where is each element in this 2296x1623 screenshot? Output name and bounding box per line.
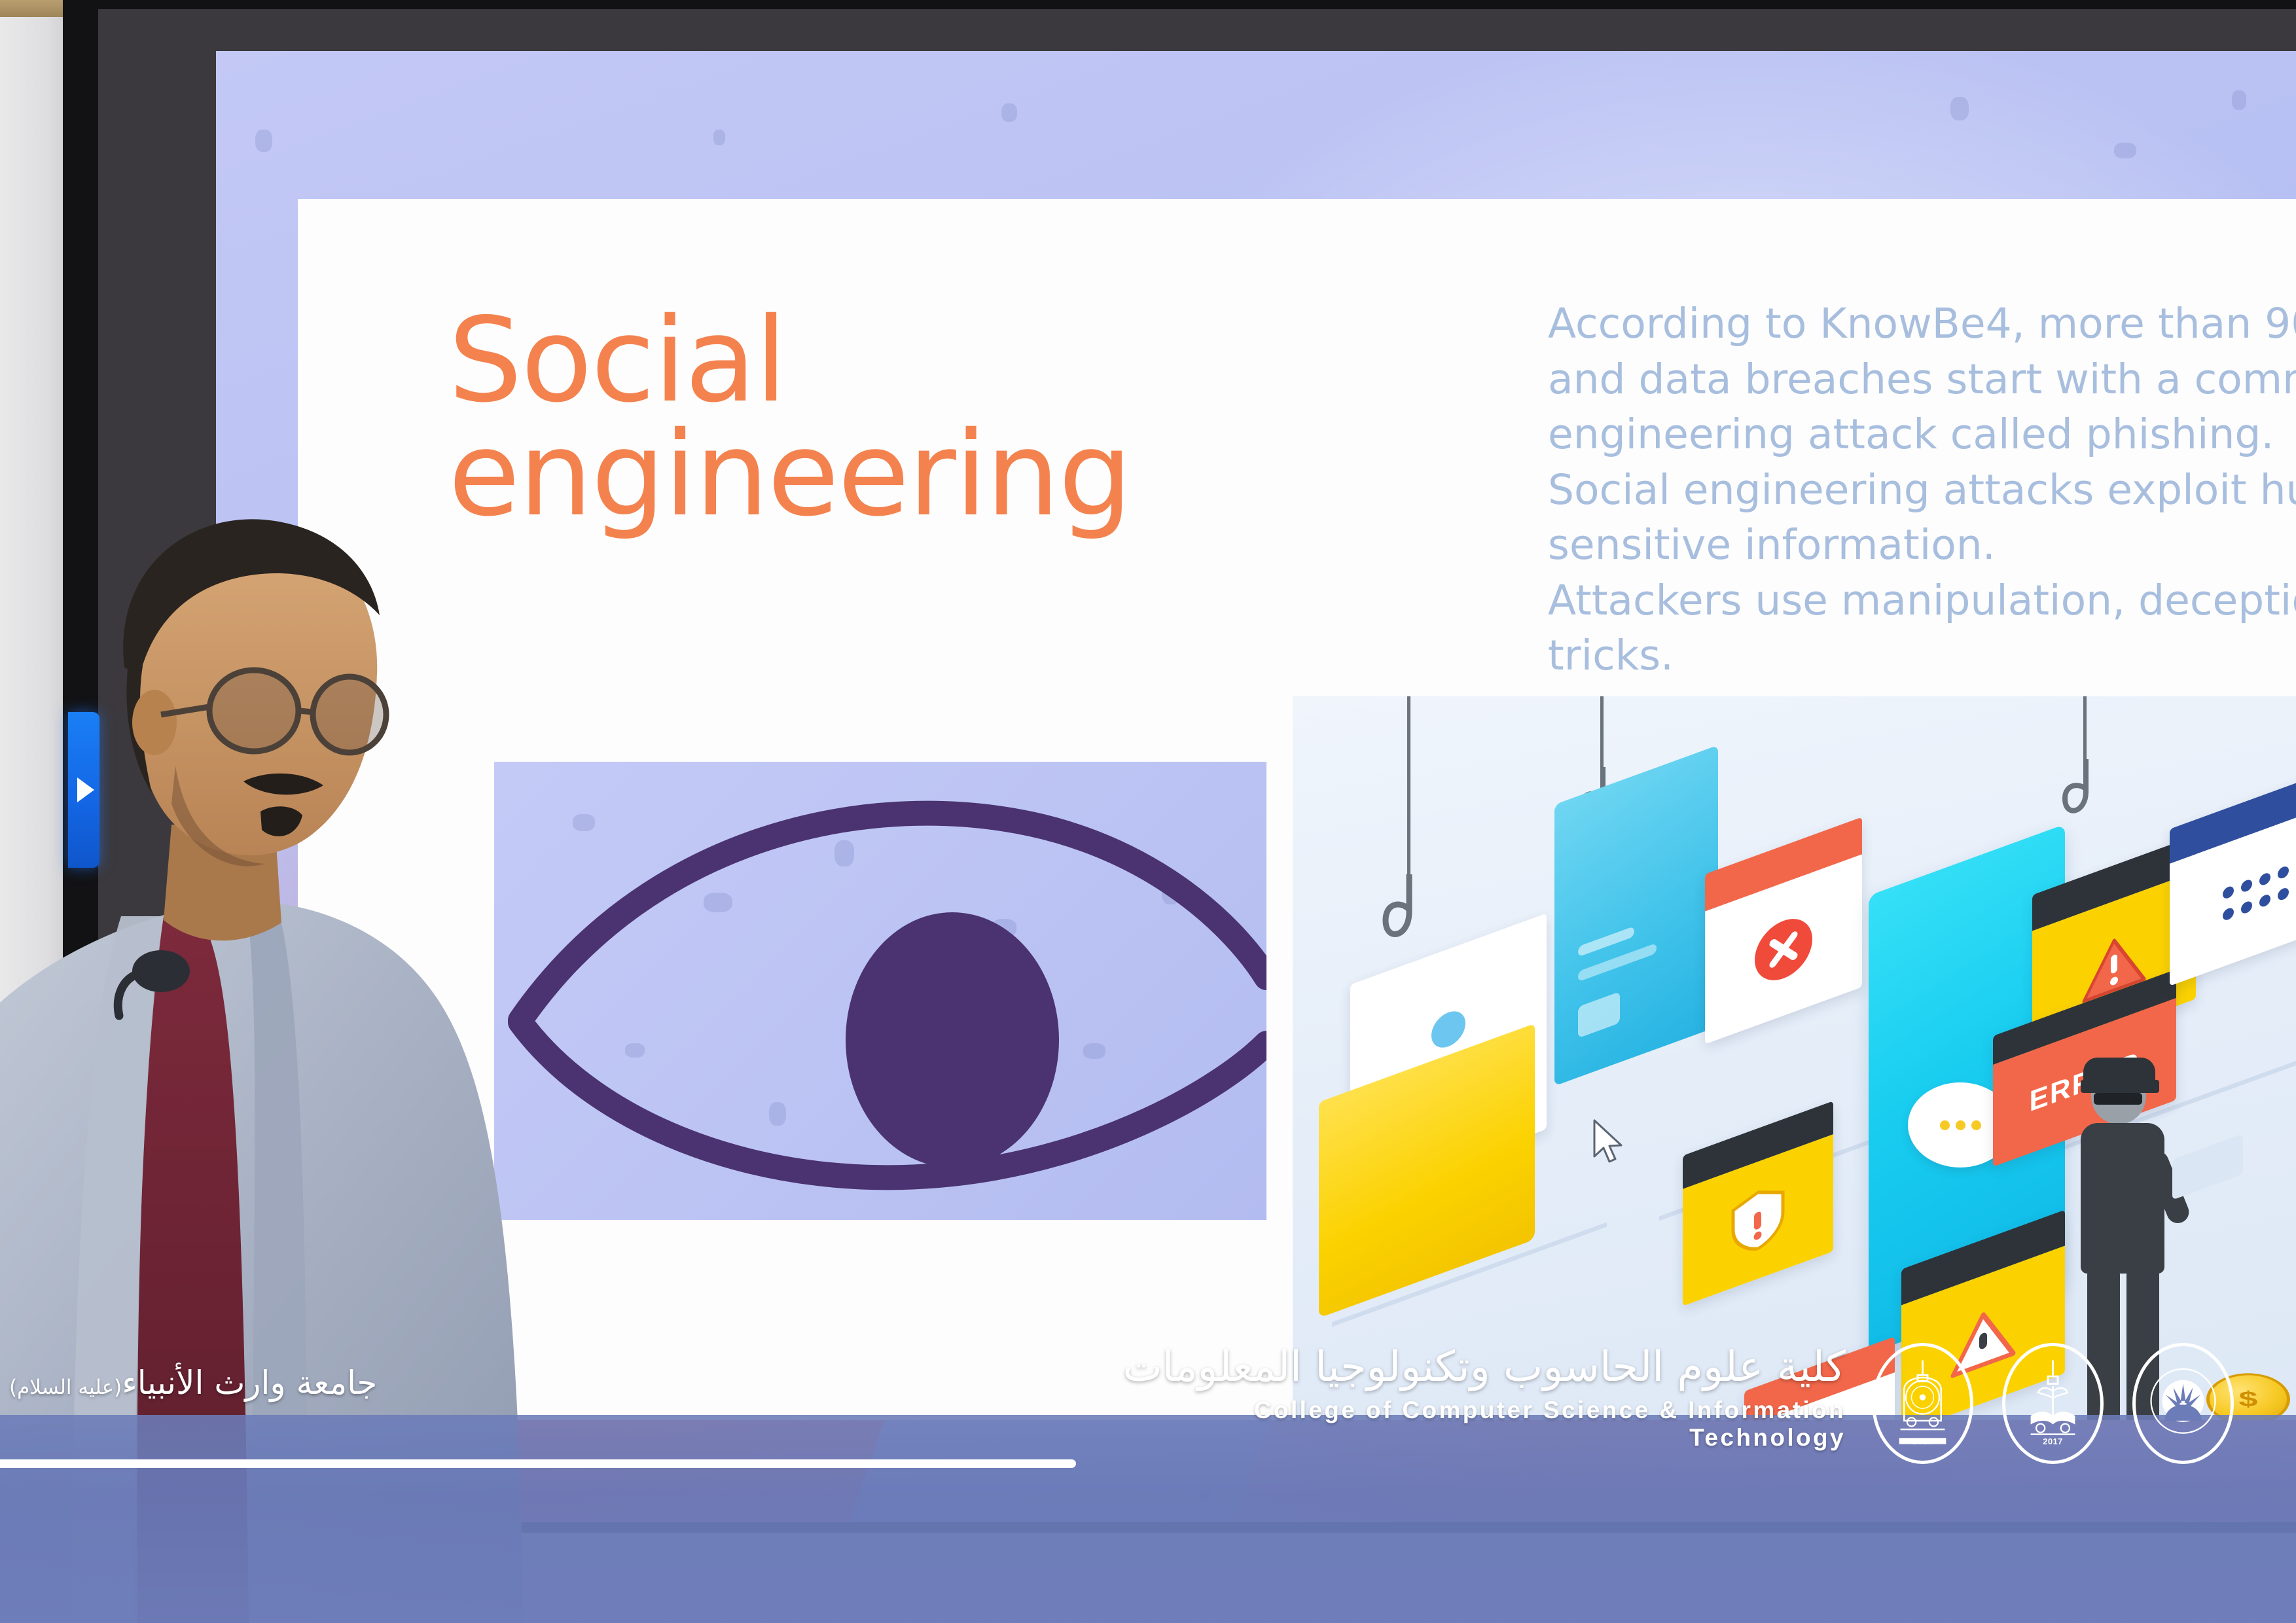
university-warith-al-anbiyaa-cs-logo: 2015 bbox=[1872, 1343, 1973, 1464]
slide-body-line-1: According to KnowBe4, more than 90% of s… bbox=[1548, 297, 2296, 351]
slide-body-text: According to KnowBe4, more than 90% of s… bbox=[1548, 297, 2296, 685]
university-emblem-icon bbox=[2016, 1357, 2090, 1449]
banner-divider-rule bbox=[0, 1459, 1076, 1468]
logo-group: 2015 2017 bbox=[1872, 1343, 2234, 1464]
fishing-hook-icon bbox=[2083, 696, 2087, 765]
college-name-english: College of Computer Science & Informatio… bbox=[1113, 1397, 1846, 1452]
university-warith-al-anbiyaa-logo: 2017 bbox=[2002, 1343, 2104, 1464]
fishing-hook-icon bbox=[1379, 874, 1442, 959]
slide-body-line-2: and data breaches start with a common ty… bbox=[1548, 353, 2296, 407]
ministry-higher-education-iraq-logo bbox=[2132, 1343, 2234, 1464]
college-name-block: كلية علوم الحاسوب وتكنولوجيا المعلومات C… bbox=[1113, 1344, 1846, 1452]
credit-card-icon bbox=[1554, 745, 1718, 1086]
college-name-arabic: كلية علوم الحاسوب وتكنولوجيا المعلومات bbox=[1113, 1344, 1846, 1391]
university-name-suffix: (عليه السلام) bbox=[9, 1376, 122, 1399]
logo-year: 2017 bbox=[2005, 1436, 2100, 1446]
slide-body-line-5: sensitive information. bbox=[1548, 518, 2296, 573]
university-name-arabic-left: جامعة وارث الأنبياء(عليه السلام) bbox=[9, 1364, 377, 1402]
university-emblem-icon bbox=[1886, 1357, 1960, 1449]
slide-body-line-4: Social engineering attacks exploit human… bbox=[1548, 463, 2296, 518]
fishing-hook-icon bbox=[2060, 759, 2116, 835]
mouse-cursor-icon bbox=[1590, 1118, 1626, 1166]
slide-body-line-6: Attackers use manipulation, deception, a… bbox=[1548, 574, 2296, 628]
university-name-arabic: جامعة وارث الأنبياء bbox=[122, 1364, 377, 1402]
phishing-isometric-illustration: ERROR bbox=[1293, 696, 2296, 1420]
scene-root: Social engineering According to KnowBe4,… bbox=[0, 0, 2296, 1623]
fishing-hook-icon bbox=[1600, 696, 1604, 772]
slide-body-line-3: engineering attack called phishing. bbox=[1548, 408, 2296, 462]
logo-year: 2015 bbox=[1875, 1436, 1970, 1446]
ministry-emblem-icon bbox=[2146, 1357, 2220, 1449]
slide-body-line-7: tricks. bbox=[1548, 629, 2296, 683]
fishing-hook-icon bbox=[1407, 696, 1410, 880]
footer-banner: جامعة وارث الأنبياء(عليه السلام) كلية عل… bbox=[0, 1415, 2296, 1623]
